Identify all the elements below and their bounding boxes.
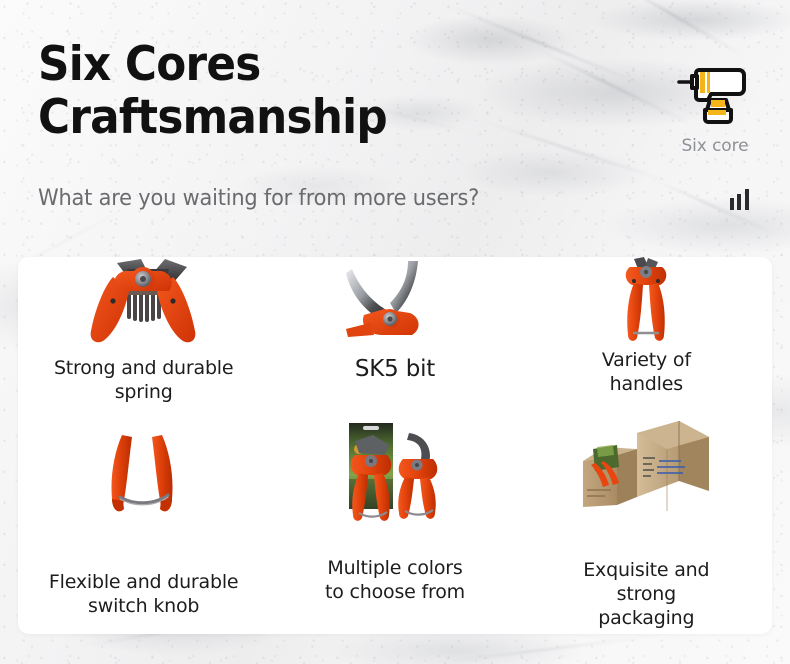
six-core-badge-label: Six core [660,136,770,156]
feature-label: Strong and durable spring [54,357,233,405]
feature-image-spring-closeup [18,257,269,349]
bar-3 [745,189,749,210]
feature-label: Flexible and durable switch knob [49,571,239,619]
feature-item-multiple-colors: Multiple colors to choose from [269,417,520,634]
feature-item-switch-knob: Flexible and durable switch knob [18,417,269,634]
feature-image-cardboard-boxes [521,417,772,539]
feature-image-switch-knob [18,417,269,545]
cordless-drill-icon [660,58,770,126]
bar-2 [737,194,741,210]
feature-item-sk5-bit: SK5 bit [269,257,520,417]
feature-image-sk5-blades [269,257,520,341]
feature-label: Multiple colors to choose from [325,557,465,605]
three-bars-mark-icon [730,188,756,210]
feature-image-blister-pack [269,417,520,539]
feature-label: SK5 bit [355,355,435,384]
feature-item-strong-durable-spring: Strong and durable spring [18,257,269,417]
page-subtitle: What are you waiting for from more users… [38,186,479,211]
header-block: Six Cores Craftsmanship [38,38,598,144]
promo-banner: Six Cores Craftsmanship What are you wai… [0,0,790,664]
feature-label: Variety of handles [602,349,691,397]
feature-grid: Strong and durable spring [18,257,772,634]
feature-item-packaging: Exquisite and strong packaging [521,417,772,634]
feature-image-full-shear [521,257,772,345]
page-title: Six Cores Craftsmanship [38,38,559,144]
feature-item-variety-of-handles: Variety of handles [521,257,772,417]
six-core-badge: Six core [660,58,770,156]
feature-label: Exquisite and strong packaging [583,559,709,630]
feature-card: Strong and durable spring [18,257,772,634]
bar-1 [730,198,734,210]
